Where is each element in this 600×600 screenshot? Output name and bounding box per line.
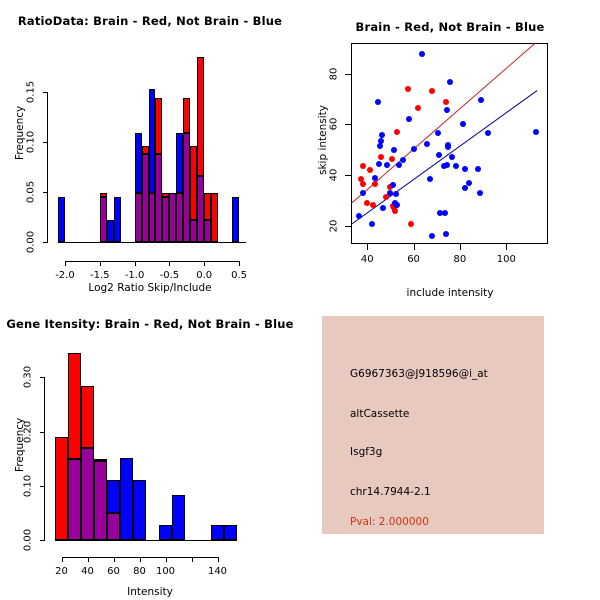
x-axis-line [65,261,239,262]
histogram-bar-overlap [190,220,197,242]
histogram-baseline [58,242,246,243]
histogram-bar [114,197,121,242]
scatter-point [394,202,400,208]
scatter-point [444,162,450,168]
x-axis-tick-label: -2.0 [55,270,75,281]
histogram-bar [120,458,133,540]
panel-info: G6967363@J918596@i_at altCassette Isgf3g… [300,300,600,600]
scatter-point [443,99,449,105]
y-axis-tick [40,540,45,541]
histogram-bar-overlap [142,154,149,242]
histogram-bar [204,193,211,220]
scatter-ylabel: skip intensity [317,105,329,175]
scatter-point [378,154,384,160]
scatter-point [390,182,396,188]
info-locus: chr14.7944-2.1 [350,486,431,498]
histogram-bar-overlap [81,448,94,540]
scatter-point [393,191,399,197]
histogram-bar-overlap [68,459,81,540]
y-axis-tick [345,175,351,176]
y-axis-tick [345,74,351,75]
histogram-bar [81,386,94,448]
x-axis-tick [460,244,461,250]
info-gene-id: G6967363@J918596@i_at [350,368,488,380]
histogram-bar-overlap [162,197,169,242]
scatter-point [378,138,384,144]
scatter-point [453,163,459,169]
x-axis-tick [218,557,219,562]
x-axis-tick [88,557,89,562]
scatter-point [475,166,481,172]
x-axis-tick [204,261,205,266]
y-axis-tick-label: 40 [329,169,340,182]
y-axis-tick-label: 20 [329,220,340,233]
scatter-point [533,129,539,135]
scatter-clip [351,43,548,244]
histogram-bar-overlap [204,220,211,242]
histogram-bar-overlap [155,154,162,242]
scatter-point [356,213,362,219]
scatter-point [394,129,400,135]
x-axis-tick-label: 100 [156,566,175,577]
scatter-point [372,175,378,181]
y-axis-tick [43,242,48,243]
x-axis-tick [414,244,415,250]
x-axis-tick-label: 100 [497,254,516,265]
y-axis-tick-label: 0.30 [23,366,34,388]
panel-ratio-histogram: RatioData: Brain - Red, Not Brain - Blue… [0,0,300,300]
scatter-point [462,166,468,172]
histogram-bar [197,57,204,176]
scatter-point [447,79,453,85]
scatter-point [436,152,442,158]
histogram-bar [135,133,142,193]
histogram-bar-overlap [169,193,176,242]
y-axis-line [47,92,48,242]
x-axis-tick-label: -1.0 [125,270,145,281]
scatter-fit-line [351,43,537,204]
histogram-bar [55,437,68,540]
panel-gene-histogram: Gene Itensity: Brain - Red, Not Brain - … [0,300,300,600]
y-axis-tick-label: 0.05 [26,181,37,203]
x-axis-tick [169,261,170,266]
histogram-bar [232,197,239,242]
x-axis-tick-label: 20 [55,566,68,577]
info-gene-symbol: Isgf3g [350,446,382,458]
scatter-point [485,130,491,136]
histogram-bar-overlap [107,513,120,540]
scatter-point [372,181,378,187]
y-axis-tick-label: 0.10 [26,131,37,153]
histogram-bar [68,353,81,459]
histogram-bar-overlap [197,176,204,242]
histogram-bar [211,525,224,540]
x-axis-tick-label: 40 [81,566,94,577]
scatter-point [406,116,412,122]
scatter-point [429,233,435,239]
histogram-bar [149,89,156,193]
scatter-point [462,185,468,191]
x-axis-tick-label: 140 [208,566,227,577]
scatter-point [376,161,382,167]
x-axis-tick [140,557,141,562]
scatter-point [408,221,414,227]
scatter-point [442,210,448,216]
x-axis-tick [114,557,115,562]
scatter-point [444,107,450,113]
y-axis-tick [43,92,48,93]
x-axis-tick [506,244,507,250]
x-axis-tick [135,261,136,266]
y-axis-tick-label: 80 [329,67,340,80]
histogram-bar-overlap [176,193,183,242]
x-axis-tick [367,244,368,250]
histogram-bar [183,98,190,133]
gene-histogram-xlabel: Intensity [0,586,300,598]
scatter-point [466,180,472,186]
scatter-point [445,144,451,150]
histogram-bar-overlap [100,197,107,242]
histogram-bar [159,525,172,540]
x-axis-tick [192,557,193,562]
scatter-point [360,163,366,169]
scatter-point [389,156,395,162]
scatter-point [449,154,455,160]
scatter-point [380,205,386,211]
histogram-bar [190,146,197,220]
scatter-point [411,146,417,152]
x-axis-tick-label: 60 [107,566,120,577]
histogram-bar [58,197,65,242]
r-graphics-device: RatioData: Brain - Red, Not Brain - Blue… [0,0,600,600]
scatter-point [360,190,366,196]
x-axis-tick [239,261,240,266]
histogram-bar [172,495,185,540]
y-axis-tick-label: 0.00 [23,529,34,551]
ratio-histogram-ylabel: Frequency [14,106,26,160]
histogram-bar [133,480,146,540]
ratio-histogram-xlabel: Log2 Ratio Skip/Include [0,282,300,294]
histogram-bar [224,525,237,540]
scatter-point [400,157,406,163]
histogram-bar [142,146,149,154]
ratio-histogram-title: RatioData: Brain - Red, Not Brain - Blue [0,14,300,28]
y-axis-tick [40,432,45,433]
y-axis-tick [40,486,45,487]
histogram-bar [176,133,183,193]
histogram-bar-overlap [149,193,156,242]
y-axis-tick [345,226,351,227]
x-axis-tick [100,261,101,266]
scatter-point [415,105,421,111]
y-axis-tick-label: 0.20 [23,420,34,442]
scatter-point [424,141,430,147]
x-axis-tick-label: 0.0 [196,270,212,281]
y-axis-tick [40,377,45,378]
scatter-point [375,99,381,105]
histogram-bar [107,220,114,242]
histogram-bar-overlap [94,461,107,540]
y-axis-tick-label: 60 [329,118,340,131]
scatter-point [443,231,449,237]
scatter-point [405,86,411,92]
histogram-bar [211,193,218,242]
scatter-point [478,97,484,103]
y-axis-line [44,377,45,540]
x-axis-tick-label: 80 [454,254,467,265]
scatter-point [419,51,425,57]
x-axis-tick-label: 0.5 [231,270,247,281]
y-axis-tick [43,192,48,193]
y-axis-tick-label: 0.15 [26,81,37,103]
scatter-point [429,88,435,94]
gene-histogram-title: Gene Itensity: Brain - Red, Not Brain - … [0,317,300,331]
histogram-bar-overlap [135,193,142,242]
x-axis-tick [65,261,66,266]
y-axis-tick-label: 0.00 [26,231,37,253]
gene-info-box: G6967363@J918596@i_at altCassette Isgf3g… [322,316,544,534]
scatter-point [477,190,483,196]
scatter-point [370,202,376,208]
x-axis-tick-label: 40 [361,254,374,265]
scatter-point [460,121,466,127]
scatter-point [391,147,397,153]
scatter-title: Brain - Red, Not Brain - Blue [300,20,600,34]
y-axis-tick [345,124,351,125]
histogram-bar [107,480,120,513]
scatter-point [435,130,441,136]
scatter-point [396,162,402,168]
scatter-xlabel: include intensity [300,287,600,299]
histogram-bar-overlap [183,133,190,242]
y-axis-tick [43,142,48,143]
scatter-point [379,132,385,138]
scatter-point [369,221,375,227]
x-axis-tick-label: 80 [133,566,146,577]
x-axis-tick [166,557,167,562]
scatter-point [360,181,366,187]
scatter-point [427,176,433,182]
histogram-bar [155,98,162,154]
x-axis-tick-label: 60 [407,254,420,265]
y-axis-tick-label: 0.10 [23,475,34,497]
scatter-point [392,208,398,214]
info-pval: Pval: 2.000000 [350,516,429,528]
scatter-point [367,167,373,173]
histogram-baseline [55,540,237,541]
x-axis-tick [62,557,63,562]
panel-scatter: Brain - Red, Not Brain - Blue include in… [300,0,600,300]
info-event-type: altCassette [350,408,409,420]
x-axis-tick-label: -0.5 [160,270,180,281]
scatter-point [384,162,390,168]
x-axis-tick-label: -1.5 [90,270,110,281]
